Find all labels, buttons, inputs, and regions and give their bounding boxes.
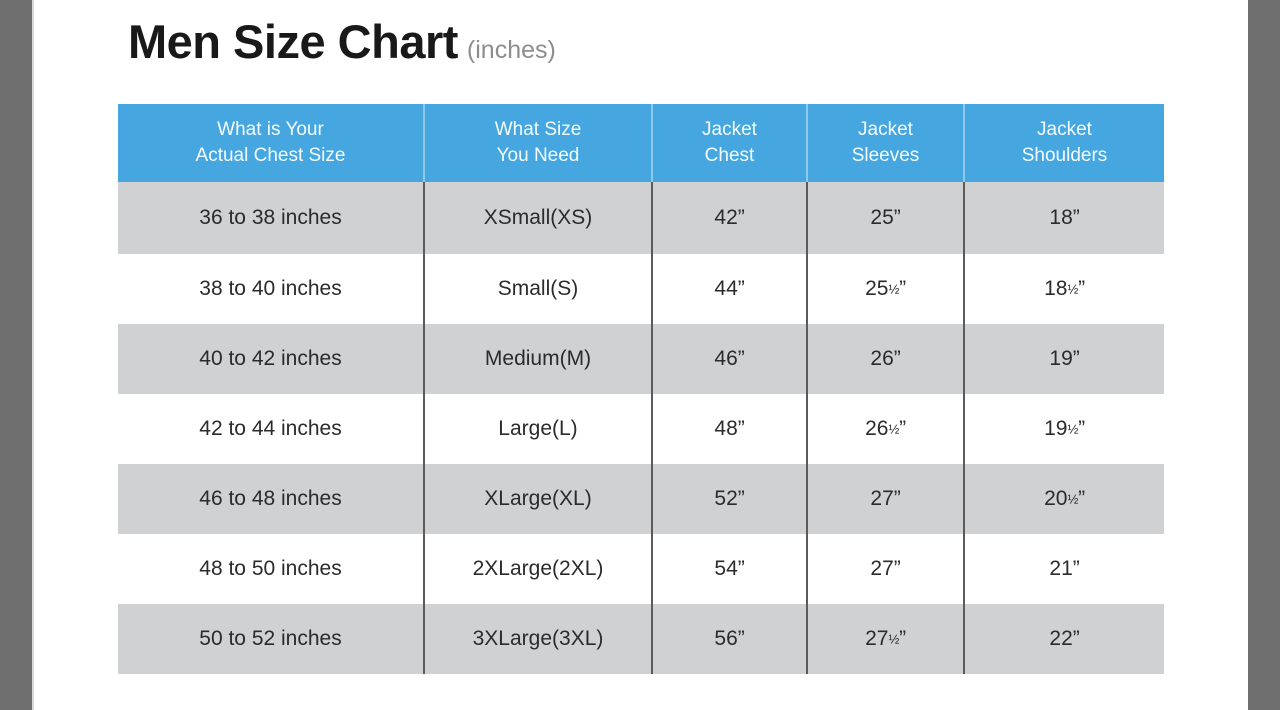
inch-mark-glyph: ” (738, 417, 745, 440)
table-body: 36 to 38 inchesXSmall(XS)42”25”18”38 to … (118, 182, 1164, 674)
table-row: 40 to 42 inchesMedium(M)46”26”19” (118, 324, 1164, 394)
inch-mark-glyph: ” (1073, 557, 1080, 580)
inch-mark-glyph: ” (1078, 277, 1085, 300)
column-header-line1: Jacket (969, 117, 1160, 143)
column-header-line1: What Size (429, 117, 647, 143)
table-cell: 20½” (964, 464, 1164, 534)
inch-mark-glyph: ” (899, 277, 906, 300)
page-title-unit: (inches) (467, 38, 556, 63)
page-title: Men Size Chart (inches) (128, 18, 556, 65)
table-cell: 21” (964, 534, 1164, 604)
table-row: 42 to 44 inchesLarge(L)48”26½”19½” (118, 394, 1164, 464)
column-header-what-is-your-actual-chest-size: What is YourActual Chest Size (118, 104, 424, 182)
column-header-jacket-sleeves: JacketSleeves (807, 104, 964, 182)
inch-mark-glyph: ” (738, 557, 745, 580)
table-cell: 48 to 50 inches (118, 534, 424, 604)
table-row: 46 to 48 inchesXLarge(XL)52”27”20½” (118, 464, 1164, 534)
table-cell: 19½” (964, 394, 1164, 464)
column-header-line2: Sleeves (812, 143, 959, 169)
column-header-line2: Chest (657, 143, 802, 169)
table-cell: 46 to 48 inches (118, 464, 424, 534)
column-header-line1: Jacket (812, 117, 959, 143)
half-fraction-glyph: ½ (1067, 492, 1078, 507)
table-cell: 42” (652, 182, 807, 254)
inch-mark-glyph: ” (738, 347, 745, 370)
inch-mark-glyph: ” (894, 206, 901, 229)
table-cell: 18½” (964, 254, 1164, 324)
column-header-line2: Actual Chest Size (122, 143, 419, 169)
table-cell: 22” (964, 604, 1164, 674)
table-cell: 56” (652, 604, 807, 674)
page-title-main: Men Size Chart (128, 18, 458, 65)
size-chart-table: What is YourActual Chest SizeWhat SizeYo… (118, 104, 1164, 674)
table-cell: 27½” (807, 604, 964, 674)
half-fraction-glyph: ½ (888, 422, 899, 437)
letterbox-bar-left (0, 0, 32, 710)
inch-mark-glyph: ” (1078, 487, 1085, 510)
table-cell: 38 to 40 inches (118, 254, 424, 324)
table-cell: 2XLarge(2XL) (424, 534, 652, 604)
inch-mark-glyph: ” (1073, 206, 1080, 229)
letterbox-bar-right (1248, 0, 1280, 710)
table-row: 36 to 38 inchesXSmall(XS)42”25”18” (118, 182, 1164, 254)
inch-mark-glyph: ” (899, 627, 906, 650)
inch-mark-glyph: ” (738, 627, 745, 650)
table-cell: 27” (807, 464, 964, 534)
table-row: 48 to 50 inches2XLarge(2XL)54”27”21” (118, 534, 1164, 604)
table-cell: Medium(M) (424, 324, 652, 394)
half-fraction-glyph: ½ (888, 282, 899, 297)
inch-mark-glyph: ” (738, 487, 745, 510)
inch-mark-glyph: ” (1078, 417, 1085, 440)
table-cell: 27” (807, 534, 964, 604)
inch-mark-glyph: ” (738, 206, 745, 229)
table-cell: 26” (807, 324, 964, 394)
table-cell: 50 to 52 inches (118, 604, 424, 674)
table-cell: 54” (652, 534, 807, 604)
table-cell: 3XLarge(3XL) (424, 604, 652, 674)
table-cell: 52” (652, 464, 807, 534)
table-cell: 48” (652, 394, 807, 464)
inch-mark-glyph: ” (1073, 627, 1080, 650)
table-cell: 40 to 42 inches (118, 324, 424, 394)
column-header-line1: What is Your (122, 117, 419, 143)
table-cell: 25½” (807, 254, 964, 324)
half-fraction-glyph: ½ (888, 632, 899, 647)
table-cell: 46” (652, 324, 807, 394)
table-row: 50 to 52 inches3XLarge(3XL)56”27½”22” (118, 604, 1164, 674)
table-cell: XSmall(XS) (424, 182, 652, 254)
table-cell: Large(L) (424, 394, 652, 464)
inch-mark-glyph: ” (894, 487, 901, 510)
slide-content: Men Size Chart (inches) What is YourActu… (34, 0, 1248, 710)
inch-mark-glyph: ” (894, 557, 901, 580)
table-cell: Small(S) (424, 254, 652, 324)
inch-mark-glyph: ” (894, 347, 901, 370)
column-header-line2: You Need (429, 143, 647, 169)
half-fraction-glyph: ½ (1067, 422, 1078, 437)
table-cell: 36 to 38 inches (118, 182, 424, 254)
column-header-jacket-shoulders: JacketShoulders (964, 104, 1164, 182)
table-cell: 19” (964, 324, 1164, 394)
table-header: What is YourActual Chest SizeWhat SizeYo… (118, 104, 1164, 182)
table-cell: XLarge(XL) (424, 464, 652, 534)
column-header-what-size-you-need: What SizeYou Need (424, 104, 652, 182)
half-fraction-glyph: ½ (1067, 282, 1078, 297)
table-header-row: What is YourActual Chest SizeWhat SizeYo… (118, 104, 1164, 182)
table-cell: 25” (807, 182, 964, 254)
table-row: 38 to 40 inchesSmall(S)44”25½”18½” (118, 254, 1164, 324)
column-header-line2: Shoulders (969, 143, 1160, 169)
column-header-jacket-chest: JacketChest (652, 104, 807, 182)
inch-mark-glyph: ” (738, 277, 745, 300)
column-header-line1: Jacket (657, 117, 802, 143)
inch-mark-glyph: ” (899, 417, 906, 440)
table-cell: 44” (652, 254, 807, 324)
table-cell: 42 to 44 inches (118, 394, 424, 464)
inch-mark-glyph: ” (1073, 347, 1080, 370)
table-cell: 18” (964, 182, 1164, 254)
table-cell: 26½” (807, 394, 964, 464)
slide-canvas: Men Size Chart (inches) What is YourActu… (0, 0, 1280, 710)
